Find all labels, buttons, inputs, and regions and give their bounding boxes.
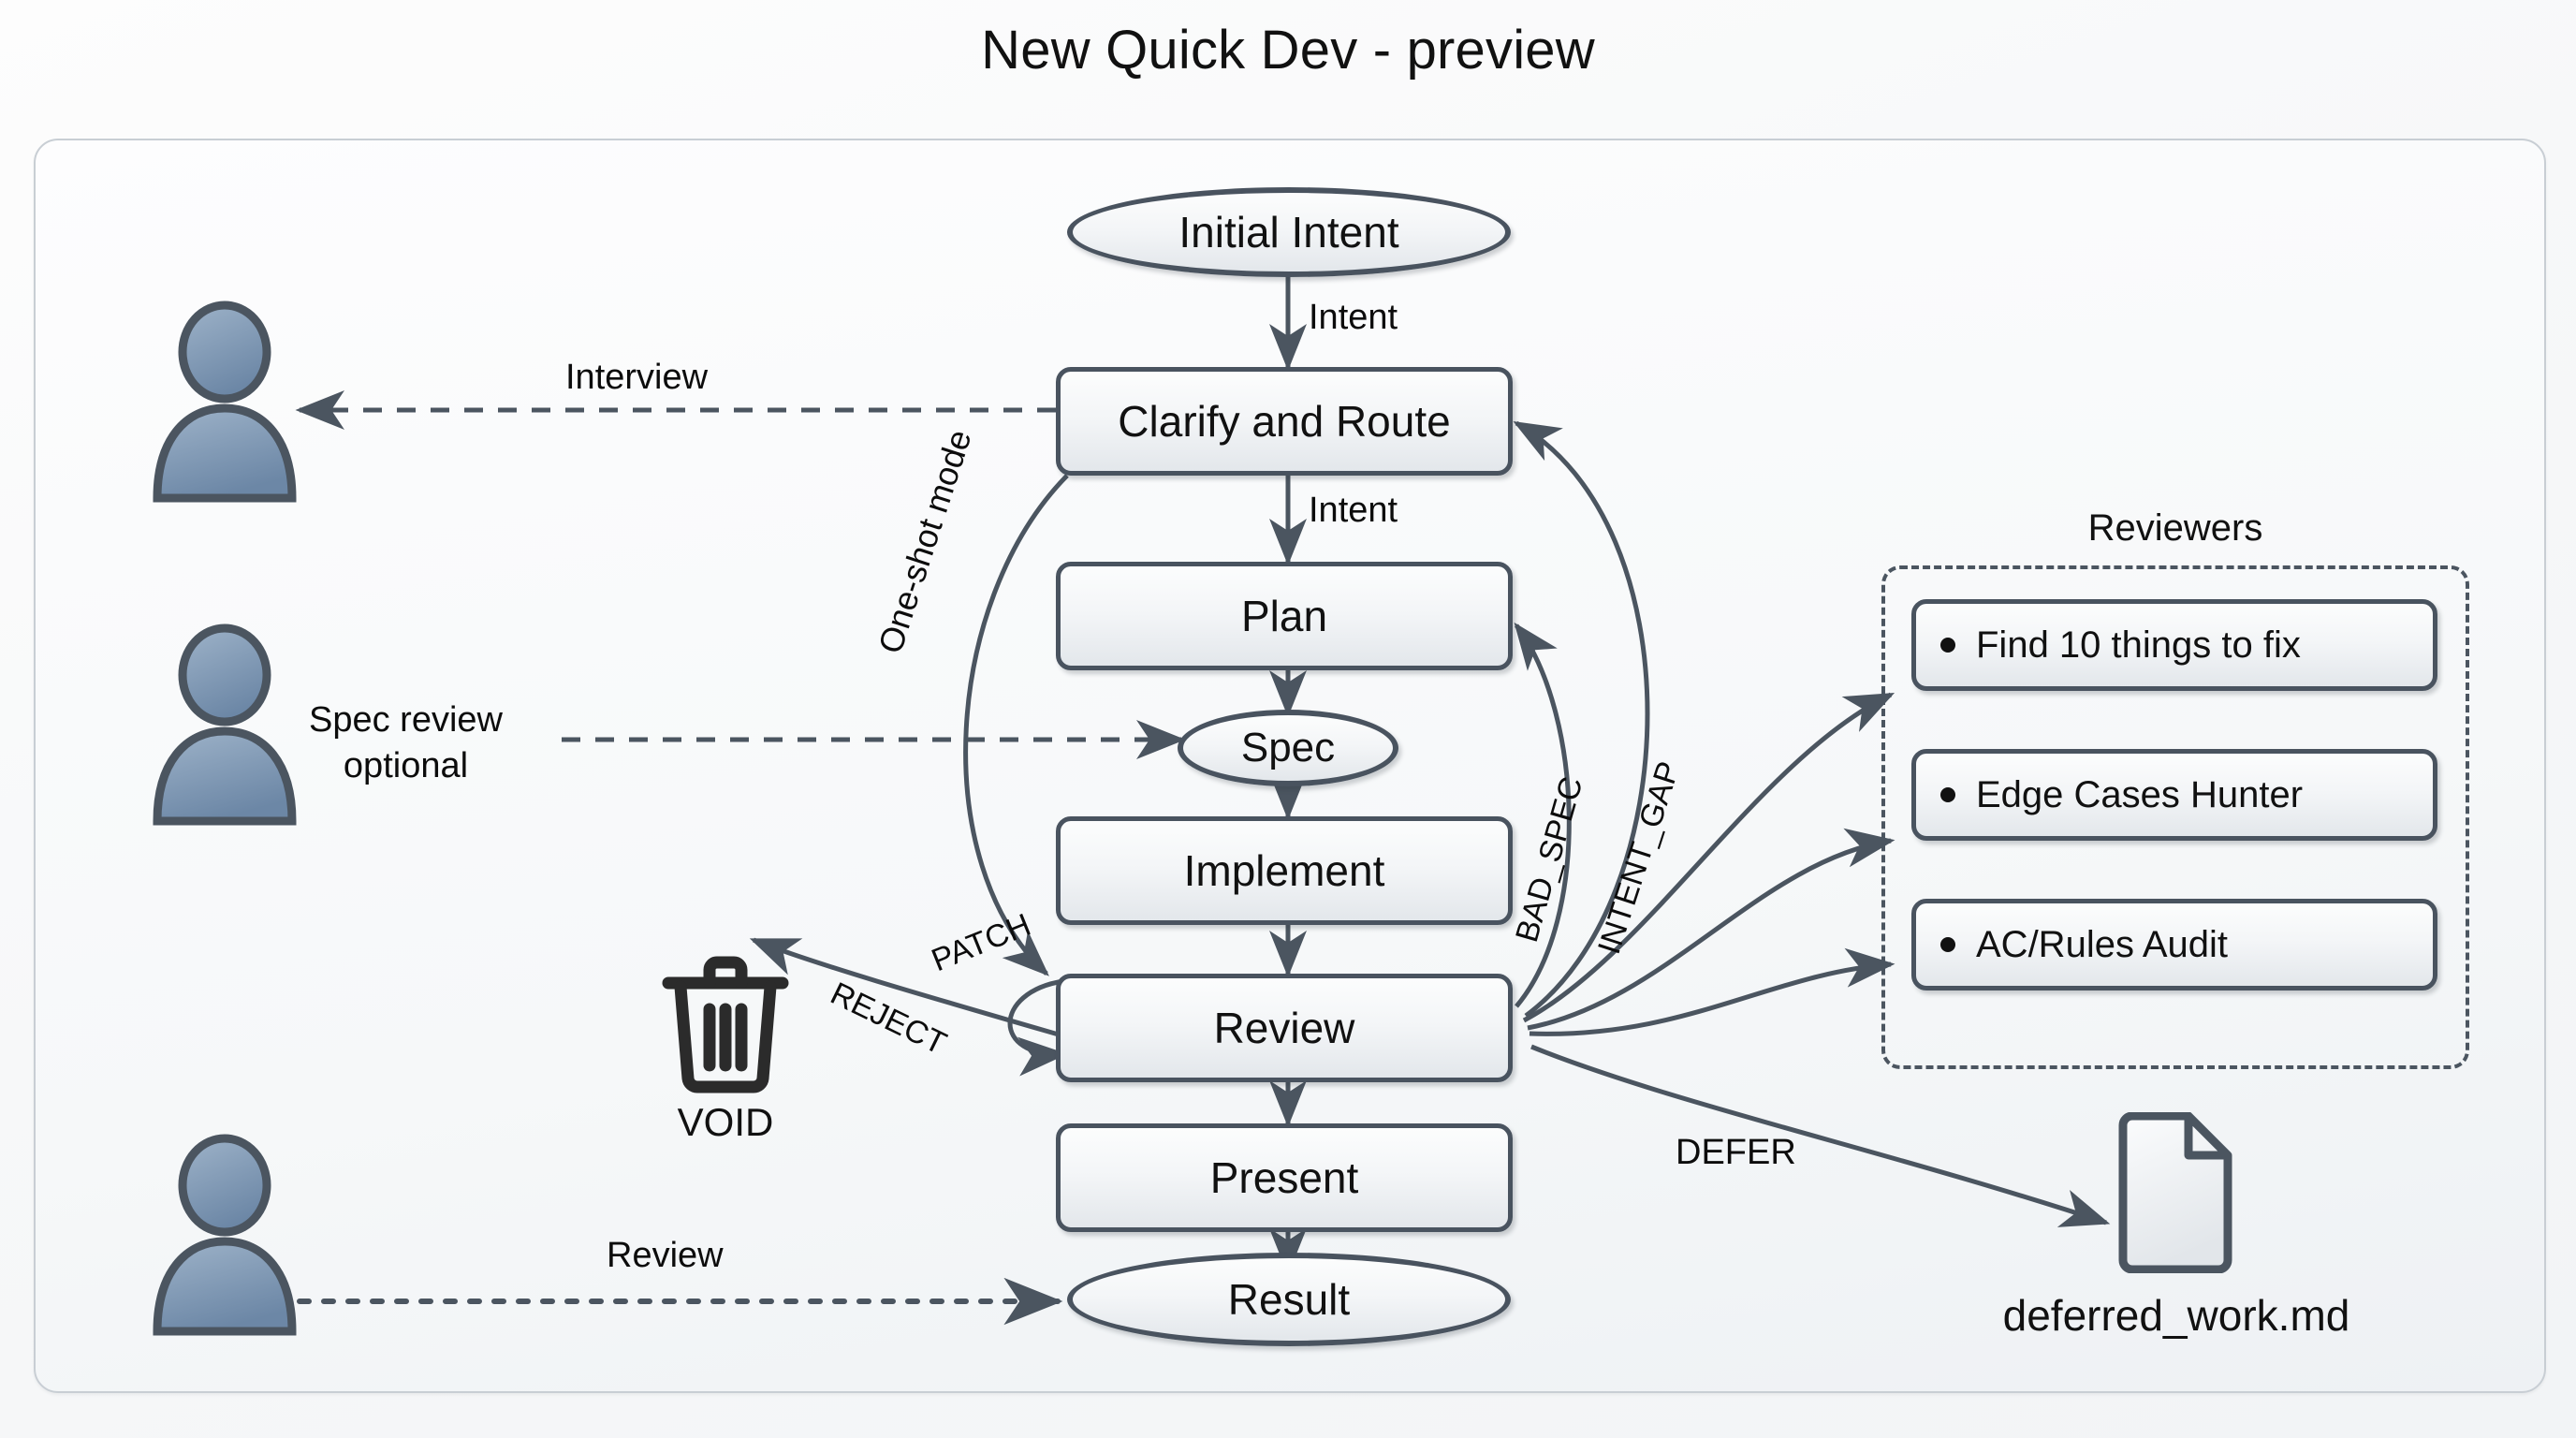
actor-icon-result-reviewer: [140, 1133, 309, 1339]
node-label: Plan: [1241, 594, 1327, 638]
reviewer-label: Edge Cases Hunter: [1976, 774, 2303, 816]
edge-label-spec-review-line2: optional: [309, 743, 503, 789]
edge-label-defer: DEFER: [1676, 1133, 1796, 1173]
node-label: Implement: [1184, 848, 1385, 893]
document-icon: [2112, 1112, 2235, 1273]
node-label: Review: [1214, 1005, 1355, 1050]
bullet-icon: [1940, 937, 1955, 952]
reviewers-group-title: Reviewers: [1881, 507, 2469, 550]
edge-label-spec-review-line1: Spec review: [309, 697, 503, 743]
reviewer-label: AC/Rules Audit: [1976, 924, 2228, 966]
reviewer-item-find-10-things-to-fix[interactable]: Find 10 things to fix: [1911, 599, 2437, 691]
edge-label-intent-mid: Intent: [1309, 491, 1398, 531]
node-label: Spec: [1241, 726, 1335, 770]
node-label: Result: [1228, 1277, 1350, 1322]
reviewer-item-ac-rules-audit[interactable]: AC/Rules Audit: [1911, 899, 2437, 990]
trash-icon: [655, 946, 796, 1095]
node-label: Present: [1210, 1155, 1359, 1200]
actor-icon-spec-reviewer: [140, 623, 309, 829]
bullet-icon: [1940, 638, 1955, 653]
node-result[interactable]: Result: [1067, 1253, 1511, 1346]
node-spec[interactable]: Spec: [1178, 710, 1398, 786]
actor-icon: [140, 623, 309, 829]
reviewer-label: Find 10 things to fix: [1976, 624, 2301, 667]
edge-label-spec-review: Spec review optional: [309, 697, 503, 788]
void-label: VOID: [655, 1100, 796, 1145]
node-review[interactable]: Review: [1056, 974, 1513, 1082]
page-title: New Quick Dev - preview: [0, 19, 2576, 81]
node-initial-intent[interactable]: Initial Intent: [1067, 187, 1511, 277]
node-clarify-and-route[interactable]: Clarify and Route: [1056, 367, 1513, 476]
bullet-icon: [1940, 787, 1955, 802]
node-label: Clarify and Route: [1118, 399, 1450, 444]
node-label: Initial Intent: [1178, 210, 1398, 255]
edge-label-review-bottom: Review: [607, 1236, 724, 1276]
node-implement[interactable]: Implement: [1056, 816, 1513, 925]
actor-icon-interviewee: [140, 300, 309, 506]
actor-icon: [140, 1133, 309, 1339]
edge-label-interview: Interview: [565, 358, 708, 398]
diagram-canvas: New Quick Dev - preview: [0, 0, 2576, 1438]
node-plan[interactable]: Plan: [1056, 562, 1513, 670]
node-present[interactable]: Present: [1056, 1123, 1513, 1232]
actor-icon: [140, 300, 309, 506]
reviewer-item-edge-cases-hunter[interactable]: Edge Cases Hunter: [1911, 749, 2437, 841]
edge-label-intent-top: Intent: [1309, 298, 1398, 338]
deferred-file-label: deferred_work.md: [1928, 1290, 2424, 1341]
